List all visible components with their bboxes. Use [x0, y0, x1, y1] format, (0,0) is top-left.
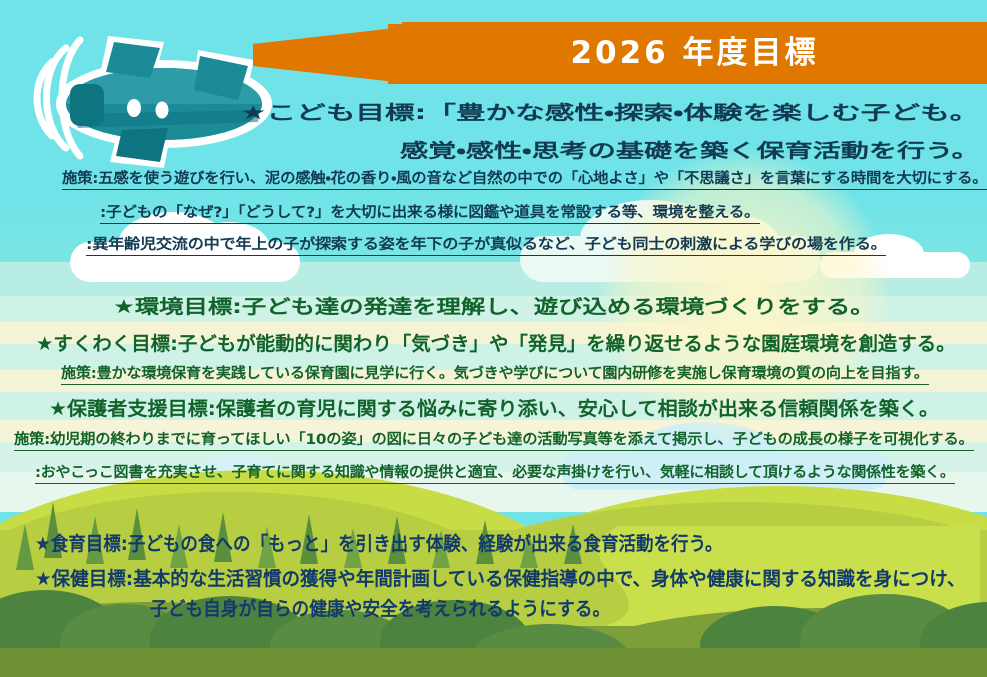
child-policy-2: :子どもの「なぜ?」「どうして?」を大切に出来る様に図鑑や道具を常設する等、環境…: [100, 206, 759, 224]
page-title: 2026 年度目標: [570, 38, 818, 69]
child-goal-line-1: ★こども目標:「豊かな感性・探索・体験を楽しむ子ども。: [240, 104, 979, 123]
child-policy-3: :異年齢児交流の中で年上の子が探索する姿を年下の子が真似るなど、子ども同士の刺激…: [86, 238, 887, 256]
health-goal-line-2: 子ども自身が自らの健康や安全を考えられるようにする。: [150, 600, 610, 619]
airplane-illustration: [22, 18, 292, 178]
food-goal-line: ★食育目標:子どもの食への「もっと」を引き出す体験、経験が出来る食育活動を行う。: [35, 535, 723, 554]
health-goal-line-1: ★保健目標:基本的な生活習慣の獲得や年間計画している保健指導の中で、身体や健康に…: [35, 570, 965, 589]
environment-policy-1: 施策:豊かな環境保育を実践している保育園に見学に行く。気づきや学びについて園内研…: [61, 367, 929, 385]
environment-goal-line: ★環境目標:子ども達の発達を理解し、遊び込める環境づくりをする。: [113, 298, 875, 317]
annual-goals-poster: 2026 年度目標 ★こども目標:「豊かな感性・探索・体験を楽しむ子ども。 感覚…: [0, 0, 987, 677]
guardian-policy-1: 施策:幼児期の終わりまでに育ってほしい「10の姿」の図に日々の子ども達の活動写真…: [14, 433, 974, 451]
child-policy-1: 施策:五感を使う遊びを行い、泥の感触・花の香り・風の音など自然の中での「心地よさ…: [62, 172, 987, 190]
foreground-ground: [0, 648, 987, 677]
guardian-policy-2: :おやこっこ図書を充実させ、子育てに関する知識や情報の提供と適宜、必要な声掛けを…: [35, 466, 955, 484]
wakuwaku-goal-line: ★すくわく目標:子どもが能動的に関わり「気づき」や「発見」を繰り返せるような園庭…: [36, 335, 956, 354]
guardian-goal-line: ★保護者支援目標:保護者の育児に関する悩みに寄り添い、安心して相談が出来る信頼関…: [49, 400, 939, 419]
child-goal-line-2: 感覚・感性・思考の基礎を築く保育活動を行う。: [400, 142, 980, 161]
title-banner: 2026 年度目標: [402, 22, 987, 84]
